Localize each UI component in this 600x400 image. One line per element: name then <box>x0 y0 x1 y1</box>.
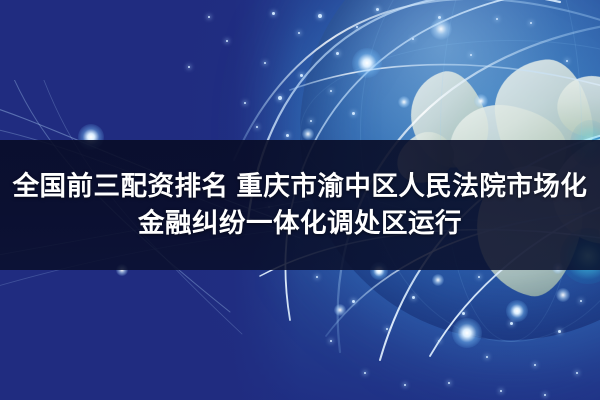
headline-block: 全国前三配资排名 重庆市渝中区人民法院市场化 金融纠纷一体化调处区运行 <box>0 140 600 270</box>
banner-image: 全国前三配资排名 重庆市渝中区人民法院市场化 金融纠纷一体化调处区运行 <box>0 0 600 400</box>
headline-line-1: 全国前三配资排名 重庆市渝中区人民法院市场化 <box>13 171 588 202</box>
headline-line-2: 金融纠纷一体化调处区运行 <box>138 208 462 239</box>
